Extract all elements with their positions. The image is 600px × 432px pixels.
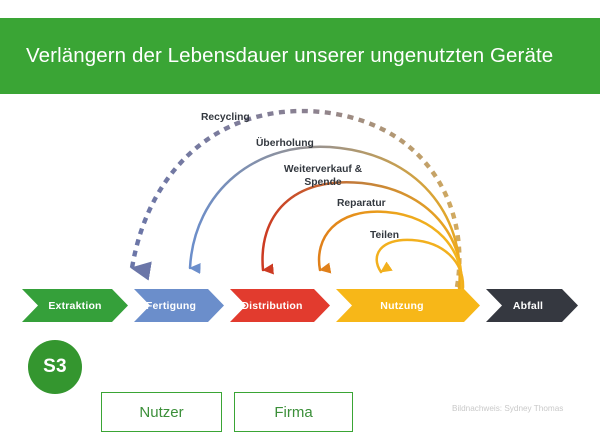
legend-box-nutzer[interactable]: Nutzer [101, 392, 222, 432]
loop-label-weiterverkauf-spende: Weiterverkauf & Spende [275, 164, 371, 189]
legend-label-nutzer: Nutzer [139, 404, 183, 421]
s3-badge-label: S3 [43, 356, 67, 378]
s3-badge: S3 [28, 340, 82, 394]
stage-label-nutzung: Nutzung [380, 300, 423, 312]
legend-box-firma[interactable]: Firma [234, 392, 353, 432]
loop-label-teilen: Teilen [370, 230, 399, 243]
stage-label-distribution: Distribution [241, 300, 302, 312]
image-credit: Bildnachweis: Sydney Thomas [452, 404, 563, 413]
loop-label-ueberholung: Überholung [256, 138, 314, 151]
lifecycle-diagram [0, 0, 600, 425]
stage-label-abfall: Abfall [513, 300, 543, 312]
infographic-canvas: Verlängern der Lebensdauer unserer ungen… [0, 0, 600, 425]
stage-label-extraktion: Extraktion [48, 300, 101, 312]
loop-label-reparatur: Reparatur [337, 198, 386, 211]
loop-label-recycling: Recycling [201, 112, 250, 125]
stage-label-fertigung: Fertigung [146, 300, 196, 312]
legend-label-firma: Firma [274, 404, 312, 421]
